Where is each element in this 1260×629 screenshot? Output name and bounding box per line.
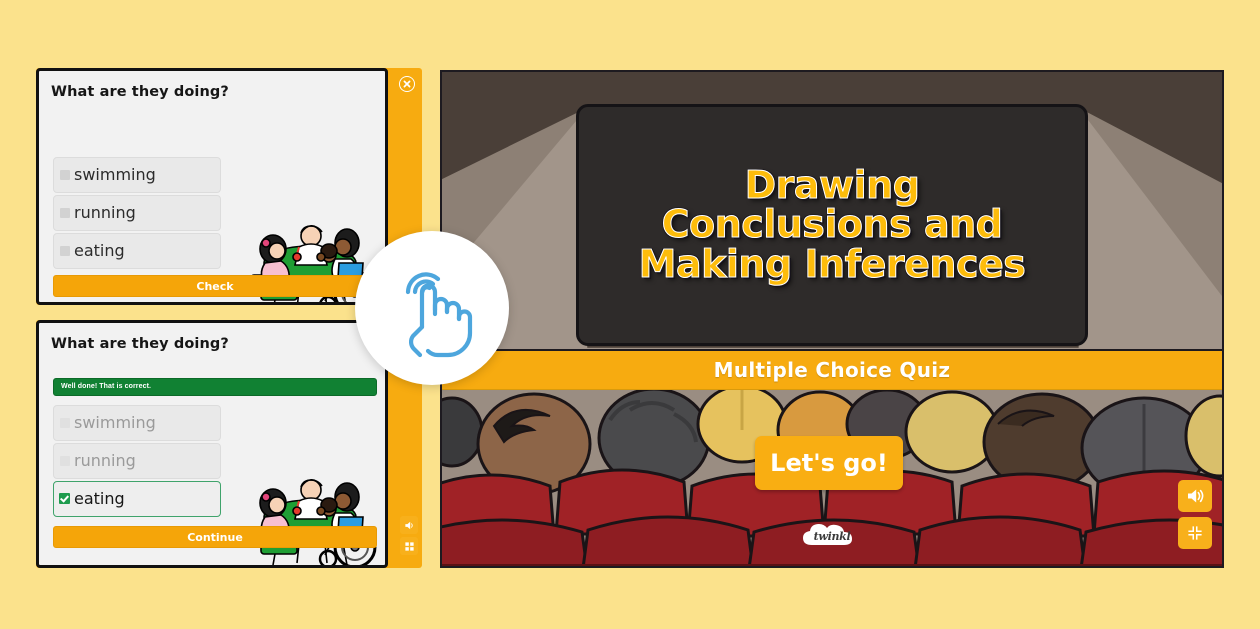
option-swimming[interactable]: swimming: [53, 157, 221, 193]
grid-icon: [404, 541, 415, 552]
start-quiz-label: Let's go!: [770, 449, 888, 477]
screenshot-root: What are they doing?: [0, 0, 1260, 629]
subtitle-bar: Multiple Choice Quiz: [442, 349, 1222, 390]
checkbox-icon: [60, 418, 70, 428]
twinkl-logo: twinkl: [800, 521, 864, 551]
option-running[interactable]: running: [53, 443, 221, 479]
grid-button[interactable]: [400, 537, 418, 555]
close-icon: [400, 77, 414, 91]
sound-on-icon: [1185, 486, 1205, 506]
fullscreen-exit-icon: [1185, 523, 1205, 543]
feedback-text: Well done! That is correct.: [61, 383, 151, 390]
title-line-1: Drawing: [639, 166, 1026, 206]
option-running[interactable]: running: [53, 195, 221, 231]
option-swimming[interactable]: swimming: [53, 405, 221, 441]
option-label: running: [74, 451, 136, 470]
quiz-card-bottom: What are they doing? Well done! That is …: [36, 320, 388, 568]
brand-text: twinkl: [814, 530, 851, 543]
mini-controls: [400, 516, 418, 558]
check-button[interactable]: Check: [53, 275, 377, 297]
sound-icon: [404, 520, 415, 531]
checkbox-icon: [60, 246, 70, 256]
option-eating[interactable]: eating: [53, 481, 221, 517]
checkbox-icon: [60, 456, 70, 466]
clipart-children-eating: [235, 465, 381, 568]
option-label: running: [74, 203, 136, 222]
slide-controls: [1178, 480, 1212, 554]
checkbox-icon: [60, 170, 70, 180]
close-button[interactable]: [399, 76, 415, 92]
page-title: What are they doing?: [51, 336, 229, 352]
quiz-card-bottom-shell: What are they doing? Well done! That is …: [36, 320, 422, 568]
page-title: What are they doing?: [51, 84, 229, 100]
tap-hand-icon: [384, 258, 480, 358]
projection-screen: Drawing Conclusions and Making Inference…: [576, 104, 1088, 346]
option-label: swimming: [74, 413, 156, 432]
option-label: swimming: [74, 165, 156, 184]
option-label: eating: [74, 241, 125, 260]
quiz-card-top: What are they doing?: [36, 68, 388, 305]
cursor-highlight-bubble: [355, 231, 509, 385]
sound-toggle-button[interactable]: [1178, 480, 1212, 512]
sound-button[interactable]: [400, 516, 418, 534]
slide-title: Drawing Conclusions and Making Inference…: [639, 166, 1026, 285]
checkbox-checked-icon: [59, 493, 70, 504]
start-quiz-button[interactable]: Let's go!: [755, 436, 903, 490]
status-badge: Well done! That is correct.: [53, 378, 377, 396]
fullscreen-exit-button[interactable]: [1178, 517, 1212, 549]
option-label: eating: [74, 489, 125, 508]
title-line-2: Conclusions and: [639, 205, 1026, 245]
option-eating[interactable]: eating: [53, 233, 221, 269]
title-line-3: Making Inferences: [639, 245, 1026, 285]
continue-button[interactable]: Continue: [53, 526, 377, 548]
subtitle-text: Multiple Choice Quiz: [714, 358, 951, 382]
checkbox-icon: [60, 208, 70, 218]
quiz-title-slide[interactable]: Drawing Conclusions and Making Inference…: [440, 70, 1224, 568]
